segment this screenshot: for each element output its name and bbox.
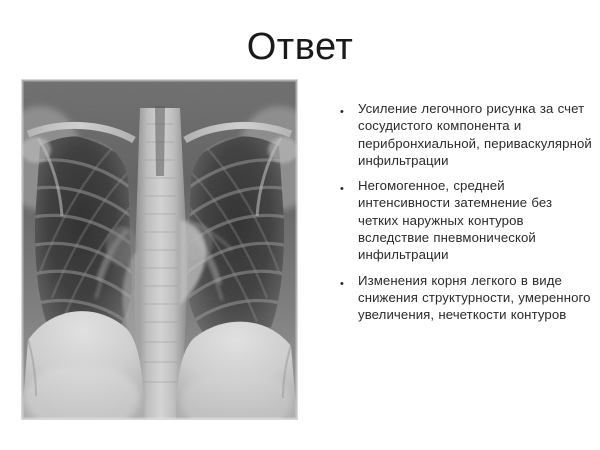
slide-canvas: Ответ bbox=[0, 0, 600, 450]
list-item-text: Усиление легочного рисунка за счет сосуд… bbox=[358, 100, 592, 169]
bullet-icon: • bbox=[340, 272, 358, 290]
bullet-icon: • bbox=[340, 100, 358, 118]
chest-xray-image bbox=[22, 80, 297, 419]
list-item: • Изменения корня легкого в виде снижени… bbox=[340, 272, 592, 324]
list-item-text: Изменения корня легкого в виде снижения … bbox=[358, 272, 592, 324]
bullet-icon: • bbox=[340, 177, 358, 195]
list-item-text: Негомогенное, средней интенсивности зате… bbox=[358, 177, 592, 263]
chest-xray-graphic bbox=[22, 80, 297, 419]
page-title: Ответ bbox=[0, 28, 600, 68]
bullet-list: • Усиление легочного рисунка за счет сос… bbox=[340, 100, 592, 332]
list-item: • Негомогенное, средней интенсивности за… bbox=[340, 177, 592, 263]
list-item: • Усиление легочного рисунка за счет сос… bbox=[340, 100, 592, 169]
